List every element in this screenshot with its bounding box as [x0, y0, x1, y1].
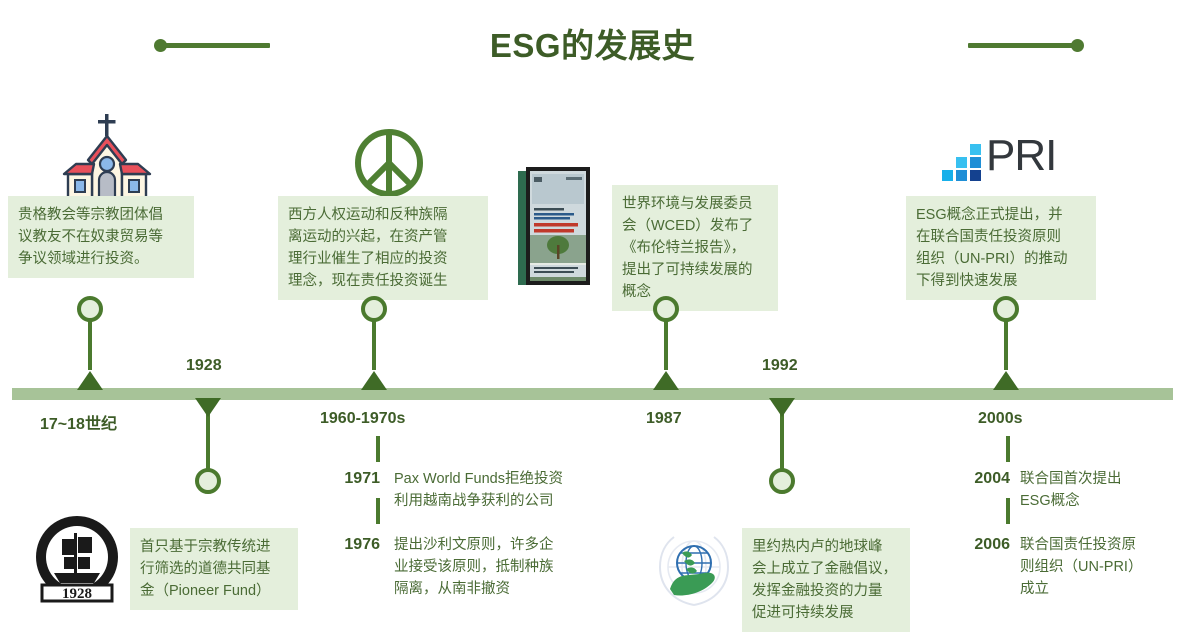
note-esg-concept: ESG概念正式提出，并 在联合国责任投资原则 组织（UN-PRI）的推动 下得到… — [906, 196, 1096, 300]
marker-triangle — [195, 398, 221, 417]
title-rule-right — [968, 43, 1078, 48]
marker-triangle — [993, 371, 1019, 390]
era-label-17-18-century: 17~18世纪 — [40, 410, 117, 434]
note-wced: 世界环境与发展委员 会（WCED）发布了 《布伦特兰报告》， 提出了可持续发展的… — [612, 185, 778, 311]
title-rule-left — [160, 43, 270, 48]
unep-fi-logo-icon — [652, 527, 736, 611]
brundtland-report-book-icon — [518, 167, 600, 287]
era-label-1928: 1928 — [186, 357, 222, 375]
sub-tick — [1006, 498, 1010, 524]
sub-event-text: 联合国首次提出 ESG概念 — [1020, 468, 1122, 512]
marker-stem — [664, 314, 668, 370]
sub-event-year: 1976 — [324, 534, 380, 556]
pri-logo-wordmark: PRI — [986, 134, 1056, 178]
peace-sign-icon — [352, 126, 426, 200]
svg-text:1928: 1928 — [62, 586, 92, 602]
marker-triangle — [769, 398, 795, 417]
sub-tick — [1006, 436, 1010, 462]
marker-triangle — [361, 371, 387, 390]
sub-event-year: 1971 — [324, 468, 380, 490]
era-label-1960-1970s: 1960-1970s — [320, 410, 405, 428]
marker-dot — [195, 468, 221, 494]
marker-stem — [372, 314, 376, 370]
era-label-1987: 1987 — [646, 410, 682, 428]
sub-event-1976: 1976 提出沙利文原则，许多企 业接受该原则，抵制种族 隔离，从南非撤资 — [324, 534, 604, 600]
infographic-canvas: ESG的发展史 — [0, 0, 1185, 644]
marker-stem — [88, 314, 92, 370]
marker-triangle — [77, 371, 103, 390]
pioneer-fund-logo-icon: 1928 — [28, 513, 126, 611]
church-icon — [52, 112, 162, 204]
marker-dot — [993, 296, 1019, 322]
note-civil-rights: 西方人权运动和反种族隔 离运动的兴起，在资产管 理行业催生了相应的投资 理念，现… — [278, 196, 488, 300]
title-rule-right-knob — [1071, 39, 1084, 52]
era-label-2000s: 2000s — [978, 410, 1023, 428]
sub-event-2004: 2004 联合国首次提出 ESG概念 — [962, 468, 1182, 512]
sub-event-list-2000s: 2004 联合国首次提出 ESG概念 2006 联合国责任投资原 则组织（UN-… — [962, 436, 1182, 600]
note-quaker: 贵格教会等宗教团体倡 议教友不在奴隶贸易等 争议领域进行投资。 — [8, 196, 194, 278]
marker-dot — [77, 296, 103, 322]
sub-tick — [376, 436, 380, 462]
note-rio-summit: 里约热内卢的地球峰 会上成立了金融倡议， 发挥金融投资的力量 促进可持续发展 — [742, 528, 910, 632]
sub-event-year: 2006 — [962, 534, 1010, 556]
sub-event-list-1960s: 1971 Pax World Funds拒绝投资 利用越南战争获利的公司 197… — [324, 436, 604, 600]
pri-logo-icon: PRI — [940, 136, 1065, 184]
marker-stem — [206, 412, 210, 470]
title-rule-left-knob — [154, 39, 167, 52]
sub-event-text: 联合国责任投资原 则组织（UN-PRI） 成立 — [1020, 534, 1142, 600]
marker-triangle — [653, 371, 679, 390]
marker-dot — [361, 296, 387, 322]
sub-event-2006: 2006 联合国责任投资原 则组织（UN-PRI） 成立 — [962, 534, 1182, 600]
sub-event-1971: 1971 Pax World Funds拒绝投资 利用越南战争获利的公司 — [324, 468, 604, 512]
marker-stem — [1004, 314, 1008, 370]
marker-dot — [653, 296, 679, 322]
sub-event-text: Pax World Funds拒绝投资 利用越南战争获利的公司 — [394, 468, 563, 512]
sub-event-year: 2004 — [962, 468, 1010, 490]
marker-stem — [780, 412, 784, 470]
sub-tick — [376, 498, 380, 524]
sub-event-text: 提出沙利文原则，许多企 业接受该原则，抵制种族 隔离，从南非撤资 — [394, 534, 554, 600]
era-label-1992: 1992 — [762, 357, 798, 375]
note-pioneer-fund: 首只基于宗教传统进 行筛选的道德共同基 金（Pioneer Fund） — [130, 528, 298, 610]
marker-dot — [769, 468, 795, 494]
